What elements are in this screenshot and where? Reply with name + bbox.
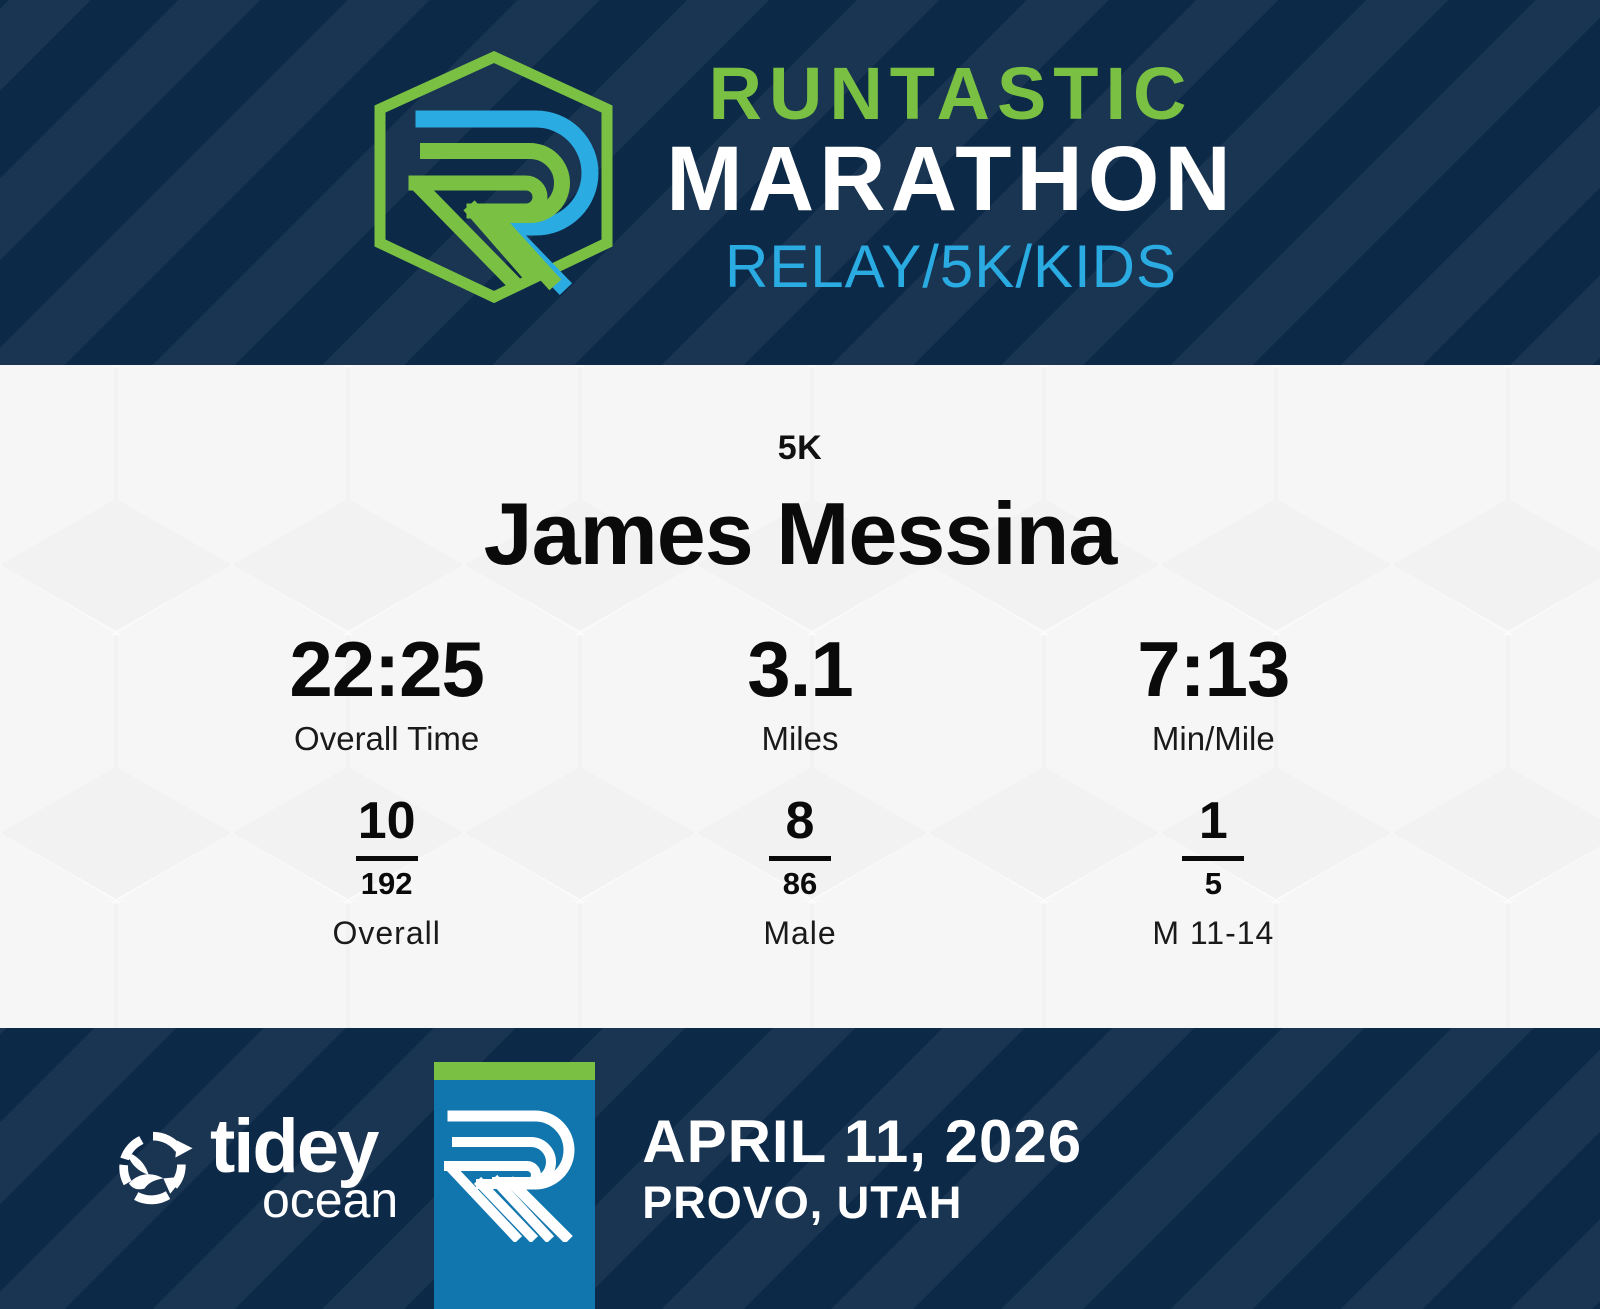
results-panel: 5K James Messina 22:25 Overall Time 3.1 … [0,365,1600,1028]
stat-label: Min/Mile [1152,722,1275,755]
stat-value: 3.1 [747,630,852,708]
stat-value: 22:25 [289,630,484,708]
stat-overall-time: 22:25 Overall Time [180,630,593,755]
stats-row: 22:25 Overall Time 3.1 Miles 7:13 Min/Mi… [180,630,1420,755]
stat-value: 7:13 [1137,630,1289,708]
runtastic-r-monogram-icon [364,47,632,309]
sponsor-logo: tidey ocean [110,1113,398,1225]
sponsor-name-primary: tidey [210,1113,398,1181]
rank-age-group: 1 5 M 11-14 [1007,795,1420,949]
rank-place: 8 [786,795,815,847]
rank-field-size: 86 [783,868,817,899]
rank-label: Male [763,917,836,949]
rank-place: 10 [358,795,416,847]
rank-field-size: 192 [361,868,413,899]
brand-wordmark: RUNTASTIC MARATHON RELAY/5K/KIDS [666,58,1236,297]
rank-label: Overall [332,917,440,949]
rank-divider [1182,856,1244,861]
stat-min-per-mile: 7:13 Min/Mile [1007,630,1420,755]
athlete-name: James Messina [484,490,1117,578]
stat-label: Overall Time [294,722,479,755]
event-info: APRIL 11, 2026 PROVO, UTAH [642,1110,1082,1226]
sponsor-name-secondary: ocean [262,1177,398,1225]
event-date: APRIL 11, 2026 [642,1110,1082,1173]
stat-label: Miles [761,722,838,755]
rank-overall: 10 192 Overall [180,795,593,949]
event-location: PROVO, UTAH [642,1179,1082,1226]
runtastic-banner [434,1062,595,1309]
brand-runtastic: RUNTASTIC [708,58,1193,131]
sponsor-wordmark: tidey ocean [210,1113,398,1225]
rank-label: M 11-14 [1152,917,1274,949]
tidey-ocean-recycle-wave-icon [110,1125,196,1211]
race-type-label: 5K [778,429,822,468]
brand-marathon: MARATHON [666,133,1236,225]
footer-banner: tidey ocean APRIL 11, 2026 PROVO, UTAH [0,1028,1600,1309]
rank-divider [769,856,831,861]
header-banner: RUNTASTIC MARATHON RELAY/5K/KIDS [0,0,1600,365]
banner-accent-stripe [434,1062,595,1080]
runtastic-r-monogram-white-icon [443,1102,587,1242]
rank-place: 1 [1199,795,1228,847]
ranks-row: 10 192 Overall 8 86 Male 1 5 M 11-14 [180,795,1420,949]
rank-divider [356,856,418,861]
rank-field-size: 5 [1205,868,1222,899]
brand-subtitle: RELAY/5K/KIDS [725,237,1177,297]
stat-miles: 3.1 Miles [593,630,1006,755]
rank-male: 8 86 Male [593,795,1006,949]
race-result-card: RUNTASTIC MARATHON RELAY/5K/KIDS [0,0,1600,1309]
